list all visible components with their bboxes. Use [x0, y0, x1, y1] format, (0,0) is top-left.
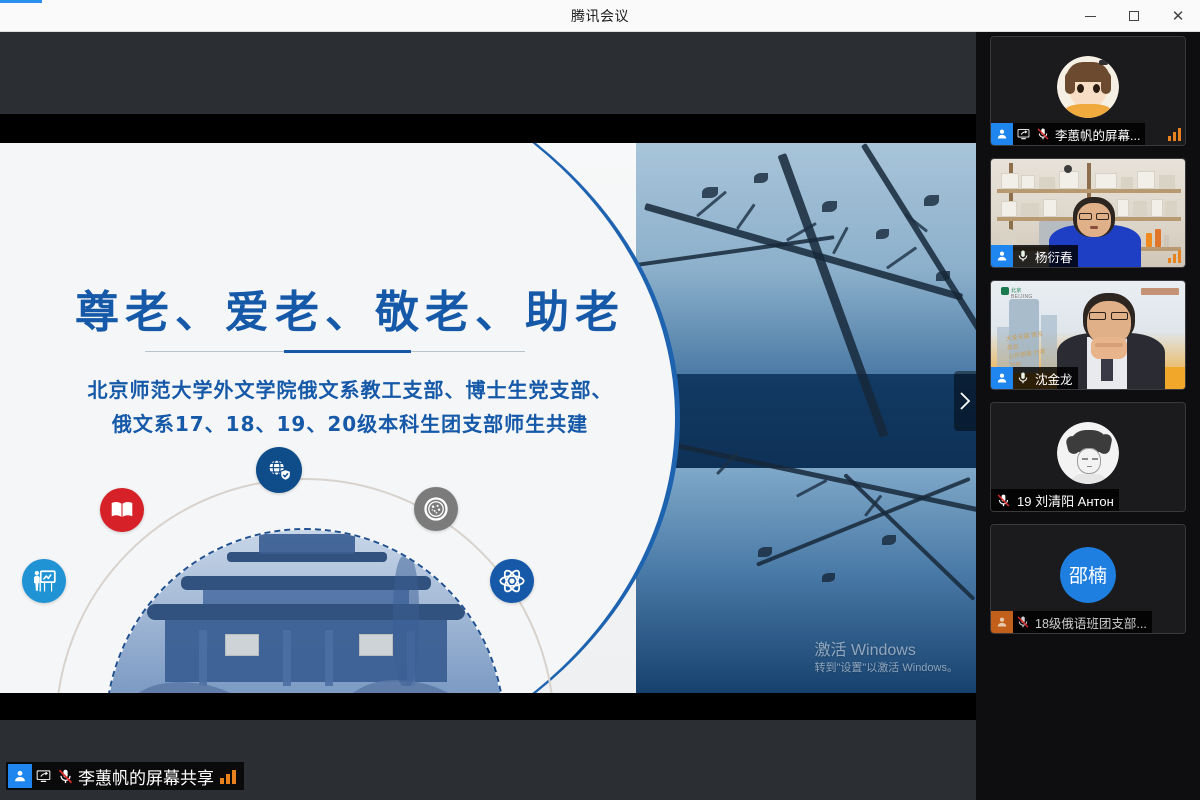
participant-tile[interactable]: 李蕙帆的屏幕...: [990, 36, 1186, 146]
active-sharer-label: 李蕙帆的屏幕共享: [6, 762, 244, 790]
screen-share-icon: [1013, 123, 1033, 145]
atom-icon: [490, 559, 534, 603]
signal-bars-icon: [1168, 127, 1181, 141]
participant-name-bar: 18级俄语班团支部...: [991, 611, 1152, 633]
presentation-slide: 尊老、爱老、敬老、助老 北京师范大学外文学院俄文系教工支部、博士生党支部、 俄文…: [0, 143, 976, 693]
mic-active-icon: [1013, 367, 1033, 389]
person-icon: [8, 764, 32, 788]
close-icon: ✕: [1172, 9, 1185, 24]
next-page-button[interactable]: [954, 371, 976, 431]
window-title-bar: 腾讯会议 ✕: [0, 0, 1200, 32]
participant-name: 19 刘清阳 Антон: [1015, 491, 1119, 510]
maximize-button[interactable]: [1112, 0, 1156, 32]
slide-subtitle: 北京师范大学外文学院俄文系教工支部、博士生党支部、 俄文系17、18、19、20…: [30, 373, 670, 441]
avatar-initials: 邵楠: [1060, 547, 1116, 603]
titlebar-accent: [0, 0, 42, 3]
participant-name-bar: 李蕙帆的屏幕...: [991, 123, 1145, 145]
participant-name-bar: 杨衍春: [991, 245, 1078, 267]
person-icon: [991, 367, 1013, 389]
slide-subtitle-line1: 北京师范大学外文学院俄文系教工支部、博士生党支部、: [88, 378, 613, 402]
minimize-icon: [1085, 16, 1096, 17]
participant-tile[interactable]: 杨衍春: [990, 158, 1186, 268]
slide-headline: 尊老、爱老、敬老、助老: [40, 276, 660, 340]
letterbox-bottom: [0, 693, 976, 720]
presentation-teacher-icon: [22, 559, 66, 603]
watermark-line2: 转到"设置"以激活 Windows。: [815, 661, 959, 675]
letterbox-top: [0, 114, 976, 143]
mic-muted-icon: [1013, 611, 1033, 633]
mic-muted-icon: [54, 764, 76, 788]
participant-tile[interactable]: 北京 BEIJING 大爱无疆 情系故友心怀感恩 行孝为先: [990, 280, 1186, 390]
participant-tile[interactable]: 19 刘清阳 Антон: [990, 402, 1186, 512]
mic-muted-icon: [991, 489, 1015, 511]
participant-name: 杨衍春: [1033, 247, 1078, 266]
participant-sidebar[interactable]: 李蕙帆的屏幕...: [976, 32, 1200, 800]
slide-subtitle-line2: 俄文系17、18、19、20级本科生团支部师生共建: [112, 412, 588, 436]
participant-name: 李蕙帆的屏幕...: [1053, 125, 1145, 144]
screen-share-icon: [32, 764, 54, 788]
watermark-line1: 激活 Windows: [815, 641, 959, 661]
avatar: [1057, 422, 1119, 484]
minimize-button[interactable]: [1068, 0, 1112, 32]
avatar: 邵楠: [1060, 547, 1116, 603]
slide-divider-accent: [284, 350, 411, 353]
chevron-right-icon: [959, 392, 971, 410]
petri-dish-icon: [414, 487, 458, 531]
signal-bars-icon: [1168, 249, 1181, 263]
person-icon: [991, 245, 1013, 267]
participant-name: 沈金龙: [1033, 369, 1078, 388]
close-button[interactable]: ✕: [1156, 0, 1200, 32]
windows-activation-watermark: 激活 Windows 转到"设置"以激活 Windows。: [815, 641, 959, 675]
participant-name-bar: 19 刘清阳 Антон: [991, 489, 1119, 511]
person-icon: [991, 611, 1013, 633]
mic-muted-icon: [1033, 123, 1053, 145]
app-title: 腾讯会议: [571, 6, 629, 26]
window-controls: ✕: [1068, 0, 1200, 32]
participant-name: 18级俄语班团支部...: [1033, 613, 1152, 632]
maximize-icon: [1129, 11, 1139, 21]
open-book-icon: [100, 488, 144, 532]
signal-bars-icon: [220, 769, 236, 784]
participant-name-bar: 沈金龙: [991, 367, 1078, 389]
participant-tile[interactable]: 邵楠 18级俄语班团支部...: [990, 524, 1186, 634]
person-icon: [991, 123, 1013, 145]
avatar: [1057, 56, 1119, 118]
sharer-name: 李蕙帆的屏幕共享: [78, 764, 214, 789]
mic-active-icon: [1013, 245, 1033, 267]
globe-shield-icon: [256, 447, 302, 493]
shared-screen-stage: 尊老、爱老、敬老、助老 北京师范大学外文学院俄文系教工支部、博士生党支部、 俄文…: [0, 32, 976, 800]
slide-photo-branches: [636, 143, 976, 693]
